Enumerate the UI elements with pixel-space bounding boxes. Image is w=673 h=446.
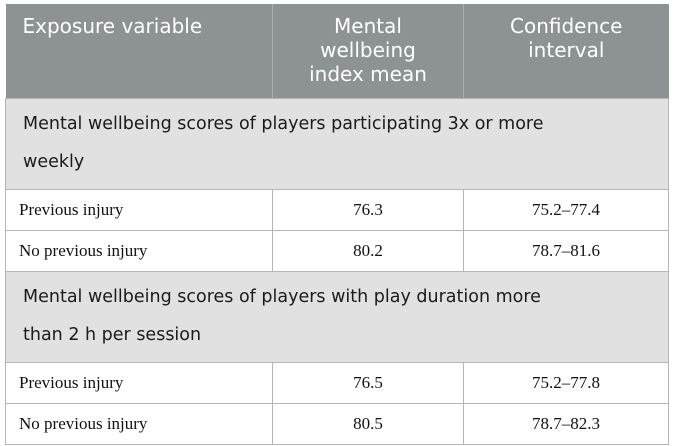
table-row: No previous injury 80.2 78.7–81.6: [6, 231, 669, 272]
section-header-row: Mental wellbeing scores of players with …: [6, 272, 669, 363]
cell-exposure-variable: Previous injury: [6, 363, 273, 404]
header-row: Exposure variable Mental wellbeing index…: [6, 4, 669, 99]
section-heading-line-2: weekly: [23, 143, 654, 181]
table-body: Mental wellbeing scores of players parti…: [6, 99, 669, 445]
column-header-confidence-interval: Confidence interval: [464, 4, 669, 99]
table-container: Exposure variable Mental wellbeing index…: [5, 4, 668, 442]
cell-confidence-interval: 75.2–77.8: [464, 363, 669, 404]
column-header-exposure-variable: Exposure variable: [6, 4, 273, 99]
cell-exposure-variable: Previous injury: [6, 190, 273, 231]
table-row: Previous injury 76.5 75.2–77.8: [6, 363, 669, 404]
section-heading-line-1: Mental wellbeing scores of players parti…: [23, 105, 654, 143]
column-header-line-1: Mental: [334, 14, 402, 38]
section-header-row: Mental wellbeing scores of players parti…: [6, 99, 669, 190]
cell-confidence-interval: 78.7–81.6: [464, 231, 669, 272]
column-header-line-2: wellbeing: [320, 38, 416, 62]
cell-mental-wellbeing-index-mean: 76.5: [273, 363, 464, 404]
table-header: Exposure variable Mental wellbeing index…: [6, 4, 669, 99]
column-header-line-2: interval: [528, 38, 604, 62]
table-row: Previous injury 76.3 75.2–77.4: [6, 190, 669, 231]
mental-wellbeing-table: Exposure variable Mental wellbeing index…: [5, 4, 669, 445]
section-heading-play-duration: Mental wellbeing scores of players with …: [6, 272, 669, 363]
table-row: No previous injury 80.5 78.7–82.3: [6, 404, 669, 445]
section-heading-line-2: than 2 h per session: [23, 316, 654, 354]
column-header-line-1: Confidence: [510, 14, 622, 38]
cell-confidence-interval: 78.7–82.3: [464, 404, 669, 445]
section-heading-participation-frequency: Mental wellbeing scores of players parti…: [6, 99, 669, 190]
cell-exposure-variable: No previous injury: [6, 404, 273, 445]
column-header-line-3: index mean: [309, 62, 427, 86]
cell-mental-wellbeing-index-mean: 80.5: [273, 404, 464, 445]
section-heading-line-1: Mental wellbeing scores of players with …: [23, 278, 654, 316]
cell-mental-wellbeing-index-mean: 80.2: [273, 231, 464, 272]
cell-confidence-interval: 75.2–77.4: [464, 190, 669, 231]
column-header-mental-wellbeing-index-mean: Mental wellbeing index mean: [273, 4, 464, 99]
cell-mental-wellbeing-index-mean: 76.3: [273, 190, 464, 231]
cell-exposure-variable: No previous injury: [6, 231, 273, 272]
